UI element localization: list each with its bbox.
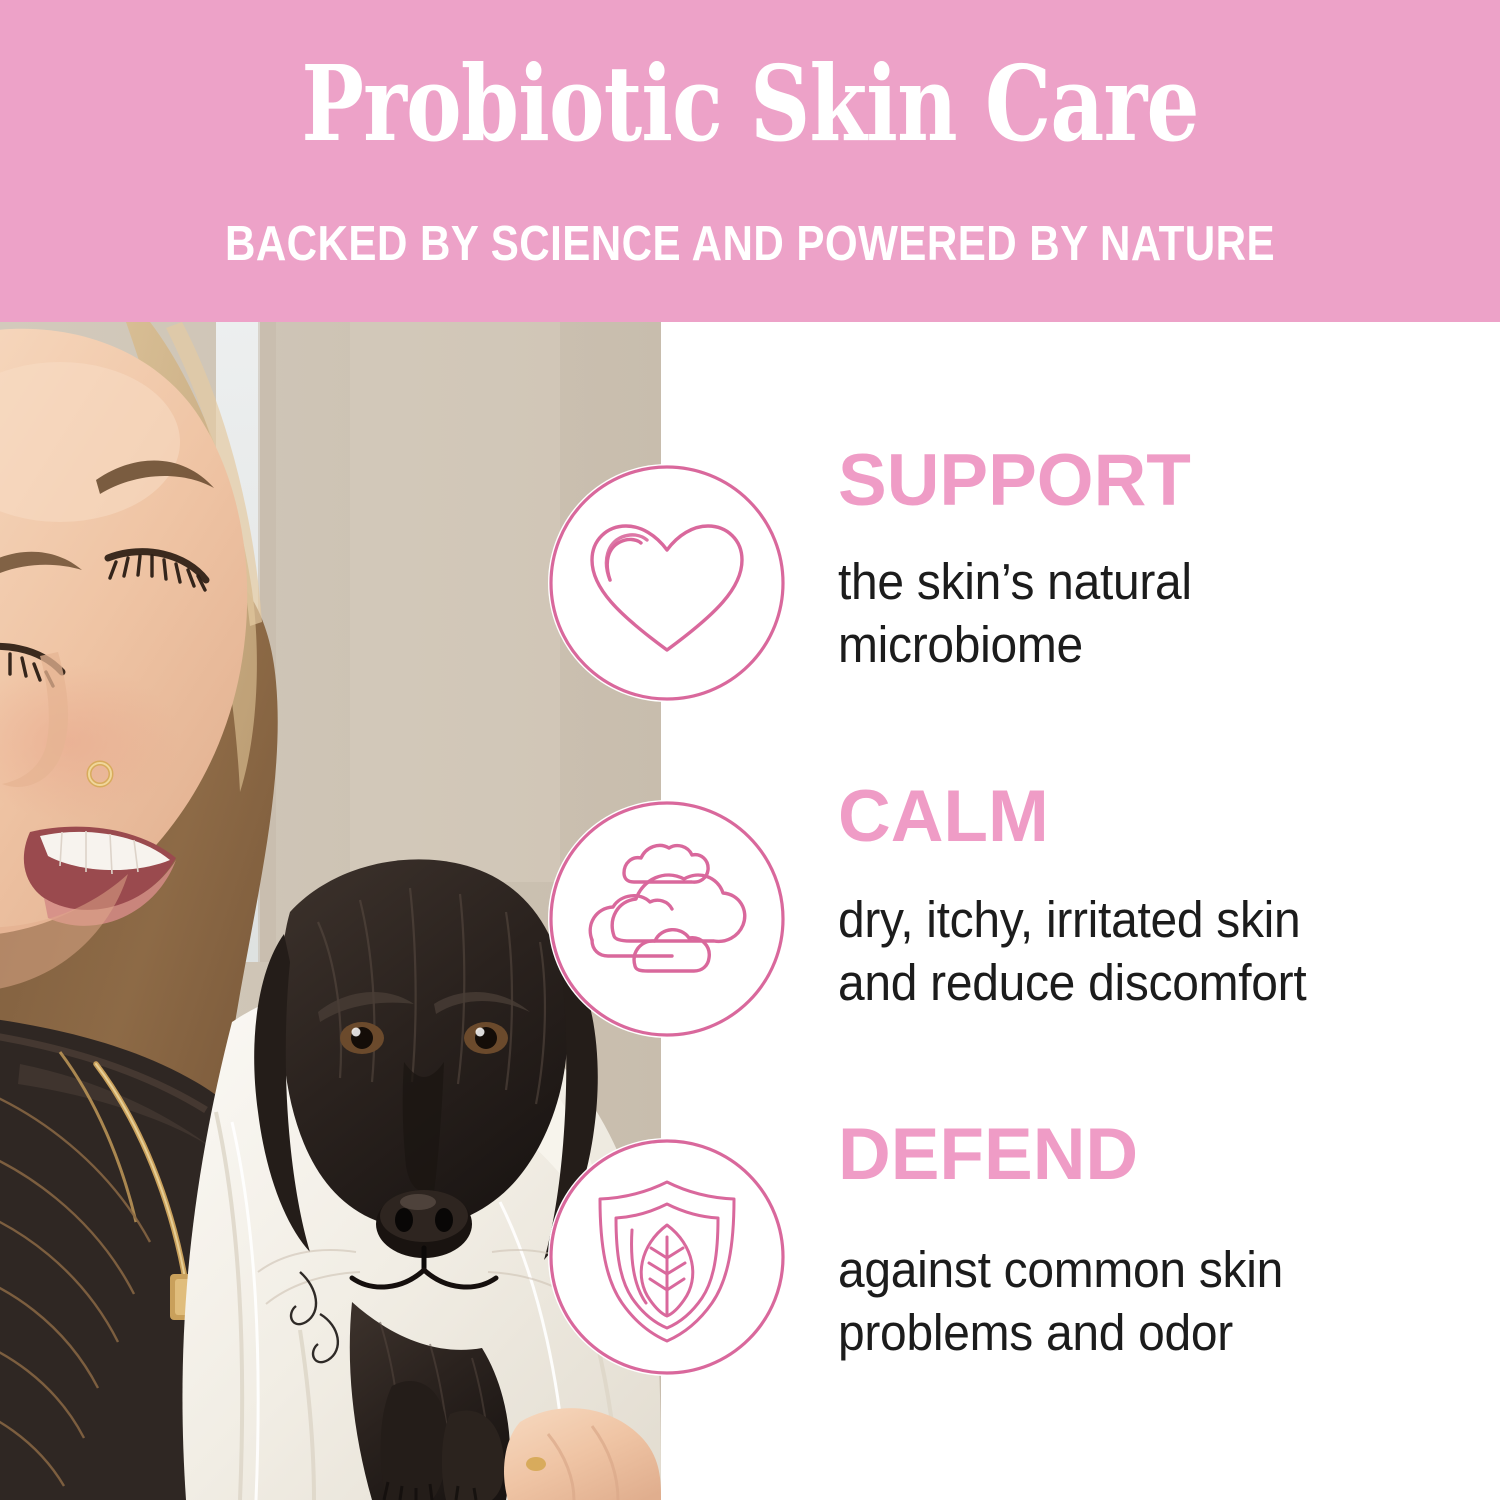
infographic-page: Probiotic Skin Care BACKED BY SCIENCE AN… [0,0,1500,1500]
feature-heading-calm: CALM [838,778,1478,856]
feature-heading-defend: DEFEND [838,1116,1478,1194]
feature-body-line: the skin’s natural [838,550,1440,613]
feature-text-support: SUPPORT the skin’s natural microbiome [838,442,1478,676]
feature-body-line: microbiome [838,613,1440,676]
shield-leaf-icon [548,1138,786,1376]
feature-body-line: problems and odor [838,1301,1440,1364]
header-banner: Probiotic Skin Care BACKED BY SCIENCE AN… [0,0,1500,322]
feature-body-defend: against common skin problems and odor [838,1238,1440,1364]
heart-icon [548,464,786,702]
feature-icon-badge-defend [548,1138,786,1376]
feature-body-support: the skin’s natural microbiome [838,550,1440,676]
feature-heading-support: SUPPORT [838,442,1478,520]
feature-body-line: dry, itchy, irritated skin [838,888,1440,951]
feature-body-calm: dry, itchy, irritated skin and reduce di… [838,888,1440,1014]
feature-body-line: against common skin [838,1238,1440,1301]
cloud-icon [548,800,786,1038]
feature-body-line: and reduce discomfort [838,951,1440,1014]
page-title: Probiotic Skin Care [150,48,1350,160]
feature-icon-badge-calm [548,800,786,1038]
feature-icon-badge-support [548,464,786,702]
feature-text-defend: DEFEND against common skin problems and … [838,1116,1478,1364]
page-subtitle: BACKED BY SCIENCE AND POWERED BY NATURE [105,216,1395,272]
feature-list: SUPPORT the skin’s natural microbiome [0,322,1500,1500]
feature-text-calm: CALM dry, itchy, irritated skin and redu… [838,778,1478,1014]
